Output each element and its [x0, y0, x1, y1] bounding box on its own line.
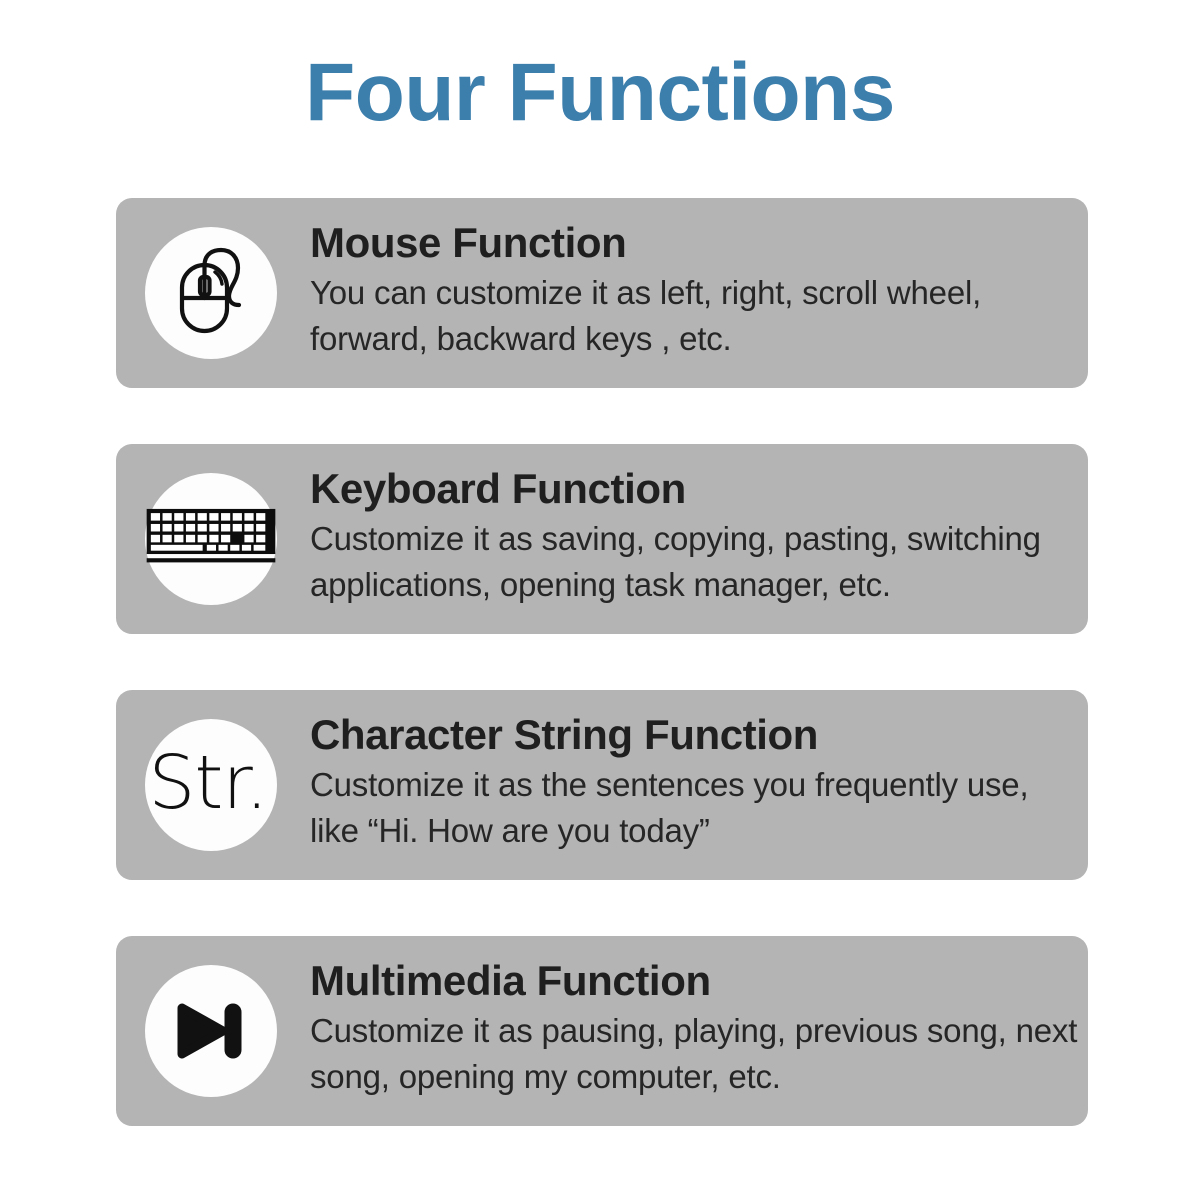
card-heading: Multimedia Function — [310, 956, 1078, 1006]
string-str-icon-label: Str. — [148, 746, 267, 820]
function-card-list: Mouse Function You can customize it as l… — [116, 198, 1088, 1126]
card-text-block: Mouse Function You can customize it as l… — [310, 218, 1078, 363]
string-str-icon: Str. — [145, 719, 277, 851]
card-heading: Character String Function — [310, 710, 1078, 760]
function-card-keyboard[interactable]: Keyboard Function Customize it as saving… — [116, 444, 1088, 634]
next-track-icon — [145, 965, 277, 1097]
keyboard-disc — [145, 473, 277, 605]
card-text-block: Multimedia Function Customize it as paus… — [310, 956, 1078, 1101]
function-card-character-string[interactable]: Str. Character String Function Customize… — [116, 690, 1088, 880]
card-body: Customize it as the sentences you freque… — [310, 762, 1078, 856]
card-text-block: Character String Function Customize it a… — [310, 710, 1078, 855]
card-text-block: Keyboard Function Customize it as saving… — [310, 464, 1078, 609]
card-body: Customize it as saving, copying, pasting… — [310, 516, 1078, 610]
poster-page: Four Functions Mouse Function — [0, 0, 1200, 1200]
page-title: Four Functions — [0, 52, 1200, 134]
function-card-multimedia[interactable]: Multimedia Function Customize it as paus… — [116, 936, 1088, 1126]
mouse-icon — [145, 227, 277, 359]
card-heading: Mouse Function — [310, 218, 1078, 268]
card-body: Customize it as pausing, playing, previo… — [310, 1008, 1078, 1102]
card-heading: Keyboard Function — [310, 464, 1078, 514]
function-card-mouse[interactable]: Mouse Function You can customize it as l… — [116, 198, 1088, 388]
card-body: You can customize it as left, right, scr… — [310, 270, 1078, 364]
